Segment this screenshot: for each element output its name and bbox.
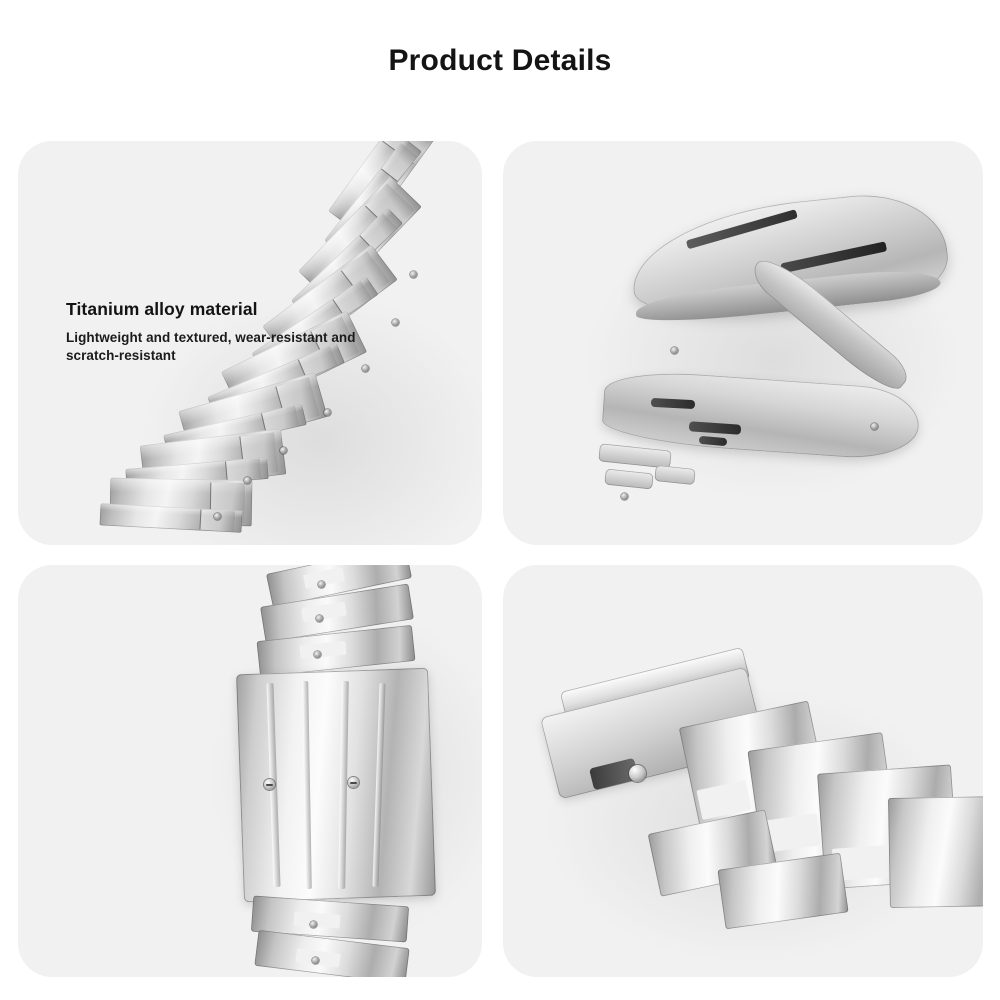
panel-folding-buckle: High quality folding buckle, Smooth open…: [503, 141, 983, 545]
panel-titanium-alloy-material: Titanium alloy material Lightweight and …: [18, 141, 482, 545]
panel-remove-chain-quickly: Remove the chain quickly, Quick size adj…: [18, 565, 482, 977]
caption-titanium-alloy-material: Titanium alloy material Lightweight and …: [66, 299, 356, 365]
page-title: Product Details: [0, 44, 1000, 78]
folding-buckle-image: [503, 141, 983, 545]
panel-gt5pro-interface: GT5Pro dedicated interface, seamless lin…: [503, 565, 983, 977]
panel-heading: Titanium alloy material: [66, 299, 356, 320]
product-details-page: Product Details: [0, 0, 1000, 1000]
panel-subtext-line-2: scratch-resistant: [66, 347, 356, 365]
connector-interface-image: [503, 565, 983, 977]
panel-subtext-line-1: Lightweight and textured, wear-resistant…: [66, 329, 356, 347]
chain-link-image: [18, 565, 482, 977]
